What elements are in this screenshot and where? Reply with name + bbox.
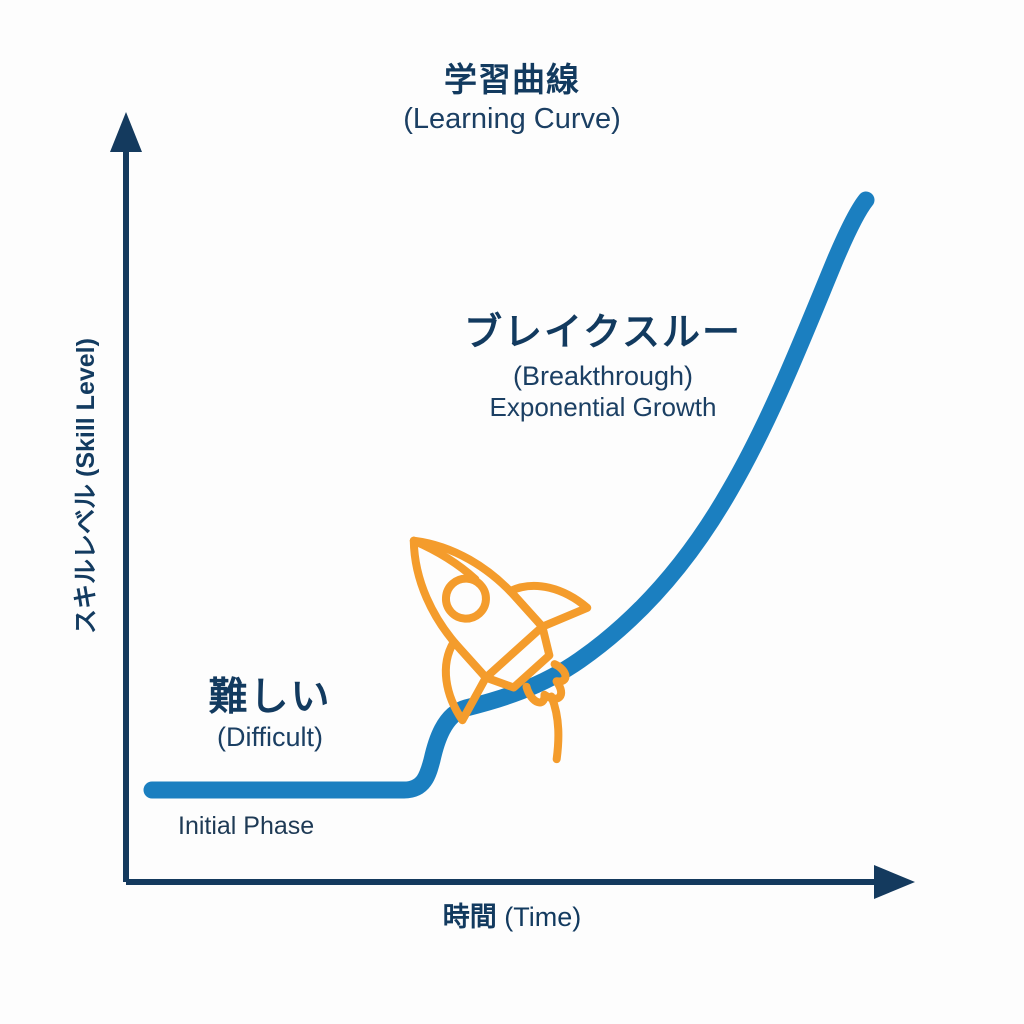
chart-title-en: (Learning Curve)	[0, 103, 1024, 135]
annotation-breakthrough-jp: ブレイクスルー	[418, 312, 788, 355]
annotation-breakthrough-sub: Exponential Growth	[418, 393, 788, 422]
annotation-initial-phase: Initial Phase	[178, 812, 314, 840]
x-axis-label: 時間 (Time)	[0, 902, 1024, 932]
y-axis-label: スキルレベル (Skill Level)	[72, 276, 100, 696]
annotation-breakthrough: ブレイクスルー (Breakthrough) Exponential Growt…	[418, 312, 788, 422]
y-axis	[110, 112, 142, 882]
x-axis-label-jp: 時間	[443, 902, 497, 932]
x-axis-label-en: (Time)	[504, 902, 581, 932]
annotation-difficult: 難しい (Difficult)	[180, 676, 360, 752]
chart-canvas	[0, 0, 1024, 1024]
annotation-difficult-en: (Difficult)	[180, 722, 360, 752]
chart-title-jp: 学習曲線	[0, 62, 1024, 99]
learning-curve-figure: 学習曲線 (Learning Curve) スキルレベル (Skill Leve…	[0, 0, 1024, 1024]
chart-title: 学習曲線 (Learning Curve)	[0, 62, 1024, 135]
arrow-right-icon	[874, 865, 915, 899]
x-axis	[126, 865, 915, 899]
annotation-breakthrough-en: (Breakthrough)	[418, 361, 788, 391]
annotation-difficult-jp: 難しい	[180, 676, 360, 720]
